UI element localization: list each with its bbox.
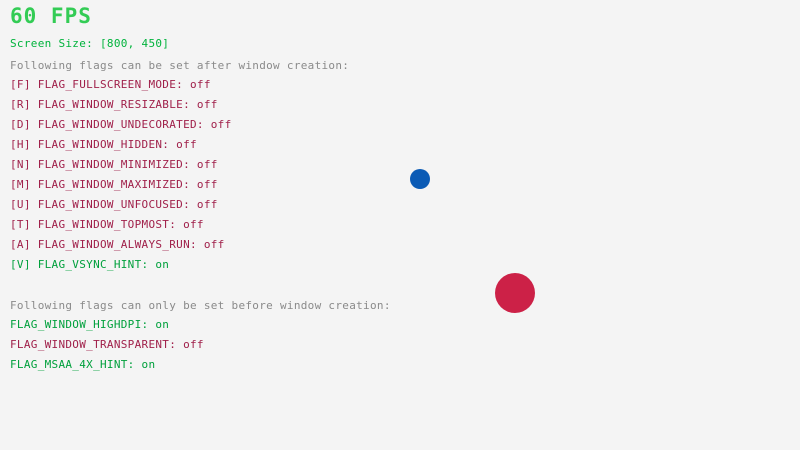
fps-counter: 60 FPS bbox=[10, 6, 92, 27]
flag-row-flag-msaa-4x-hint: FLAG_MSAA_4X_HINT: on bbox=[10, 359, 155, 370]
flag-row-flag-window-minimized[interactable]: [N] FLAG_WINDOW_MINIMIZED: off bbox=[10, 159, 218, 170]
flag-row-flag-window-transparent: FLAG_WINDOW_TRANSPARENT: off bbox=[10, 339, 204, 350]
screen-size-label: Screen Size: [800, 450] bbox=[10, 38, 169, 49]
flag-row-flag-window-maximized[interactable]: [M] FLAG_WINDOW_MAXIMIZED: off bbox=[10, 179, 218, 190]
flag-row-flag-window-resizable[interactable]: [R] FLAG_WINDOW_RESIZABLE: off bbox=[10, 99, 218, 110]
section-note-after-creation: Following flags can be set after window … bbox=[10, 60, 349, 71]
flag-row-flag-window-unfocused[interactable]: [U] FLAG_WINDOW_UNFOCUSED: off bbox=[10, 199, 218, 210]
blue-ball bbox=[410, 169, 430, 189]
flag-row-flag-fullscreen-mode[interactable]: [F] FLAG_FULLSCREEN_MODE: off bbox=[10, 79, 211, 90]
flag-row-flag-window-highdpi: FLAG_WINDOW_HIGHDPI: on bbox=[10, 319, 169, 330]
flag-row-flag-window-topmost[interactable]: [T] FLAG_WINDOW_TOPMOST: off bbox=[10, 219, 204, 230]
flag-row-flag-window-undecorated[interactable]: [D] FLAG_WINDOW_UNDECORATED: off bbox=[10, 119, 232, 130]
flag-row-flag-window-hidden[interactable]: [H] FLAG_WINDOW_HIDDEN: off bbox=[10, 139, 197, 150]
flag-row-flag-vsync-hint[interactable]: [V] FLAG_VSYNC_HINT: on bbox=[10, 259, 169, 270]
flag-row-flag-window-always-run[interactable]: [A] FLAG_WINDOW_ALWAYS_RUN: off bbox=[10, 239, 225, 250]
red-ball bbox=[495, 273, 535, 313]
section-note-before-creation: Following flags can only be set before w… bbox=[10, 300, 391, 311]
raylib-window-canvas: 60 FPS Screen Size: [800, 450] Following… bbox=[0, 0, 800, 450]
